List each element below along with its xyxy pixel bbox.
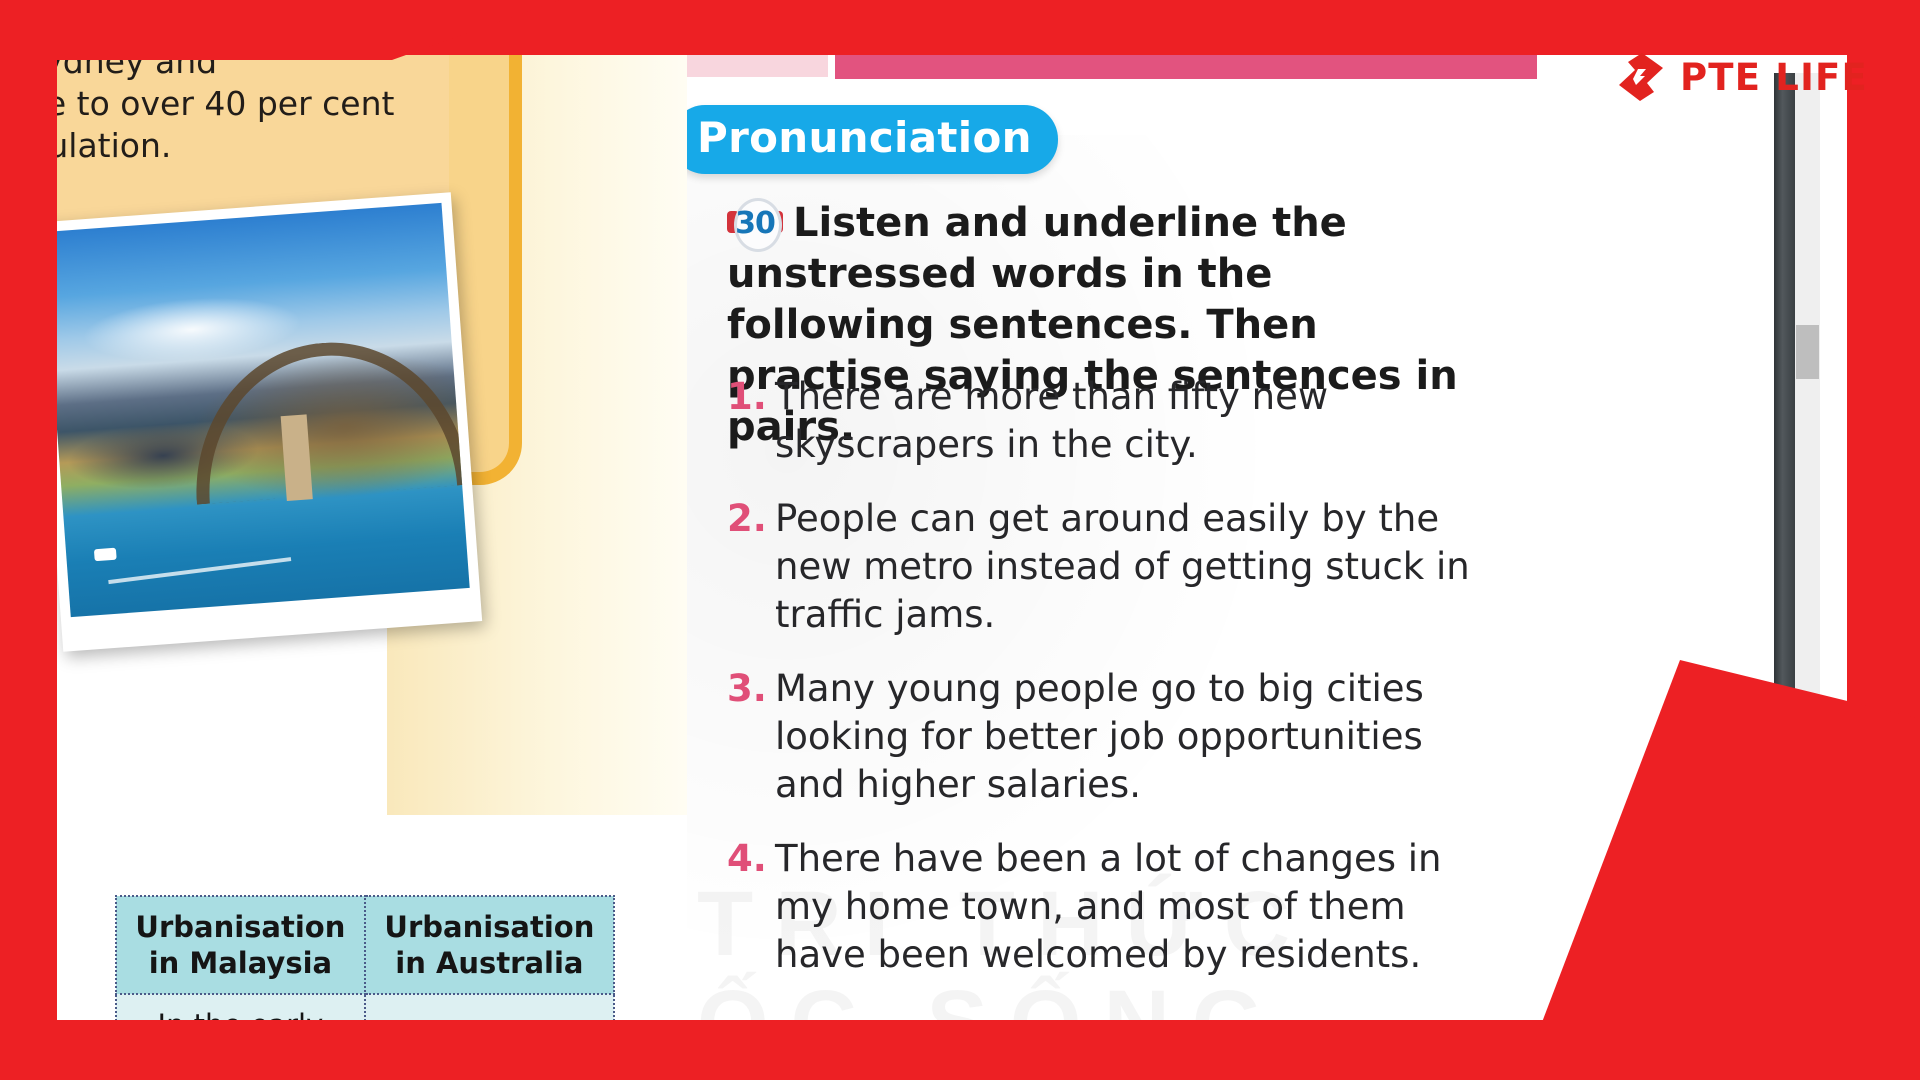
audio-track-number: 30: [727, 206, 783, 241]
left-page-paragraph: ralia, Sydney and re home to over 40 per…: [57, 55, 399, 167]
list-item-text: There have been a lot of changes in my h…: [775, 837, 1442, 976]
list-item-number: 2.: [727, 495, 767, 543]
section-title-pronunciation: Pronunciation: [687, 105, 1058, 174]
brand-name: PTE LIFE: [1680, 56, 1868, 99]
list-item-text: People can get around easily by the new …: [775, 497, 1470, 636]
list-item: 1. There are more than fifty new skyscra…: [727, 373, 1487, 469]
urbanisation-comparison-table: Urbanisation in Malaysia Urbanisation in…: [115, 895, 615, 1020]
table-header-row: Urbanisation in Malaysia Urbanisation in…: [116, 896, 614, 994]
sydney-harbour-photo: [57, 203, 470, 617]
accent-bar-light: [687, 55, 828, 77]
list-item-text: There are more than fifty new skyscraper…: [775, 375, 1328, 466]
list-item: 4. There have been a lot of changes in m…: [727, 835, 1487, 979]
table-row: In the early: [116, 994, 614, 1020]
brand-logo[interactable]: PTE LIFE: [1618, 52, 1868, 102]
vertical-scrollbar-thumb[interactable]: [1796, 325, 1819, 379]
red-corner-decoration-top-left: [0, 0, 560, 60]
page-sheet: TRI THỨC ỐC SỐNG ralia, Sydney and re ho…: [57, 55, 1847, 1020]
table-cell-malaysia: In the early: [116, 994, 365, 1020]
boat-wake-shape: [108, 557, 291, 584]
diamond-logo-icon: [1618, 52, 1664, 102]
table-header-malaysia: Urbanisation in Malaysia: [116, 896, 365, 994]
list-item-text: Many young people go to big cities looki…: [775, 667, 1424, 806]
headphones-audio-icon[interactable]: 30: [727, 197, 783, 249]
table-cell-australia: [365, 994, 614, 1020]
ferry-boat-shape: [94, 548, 117, 562]
list-item: 3. Many young people go to big cities lo…: [727, 665, 1487, 809]
list-item-number: 4.: [727, 835, 767, 883]
list-item: 2. People can get around easily by the n…: [727, 495, 1487, 639]
accent-bar-dark: [835, 55, 1537, 79]
left-page-column: ralia, Sydney and re home to over 40 per…: [57, 55, 687, 1020]
bridge-pylon-shape: [281, 414, 313, 501]
list-item-number: 3.: [727, 665, 767, 713]
table-header-australia: Urbanisation in Australia: [365, 896, 614, 994]
polaroid-photo-frame: [57, 192, 482, 652]
sentence-list: 1. There are more than fifty new skyscra…: [727, 373, 1487, 1005]
list-item-number: 1.: [727, 373, 767, 421]
